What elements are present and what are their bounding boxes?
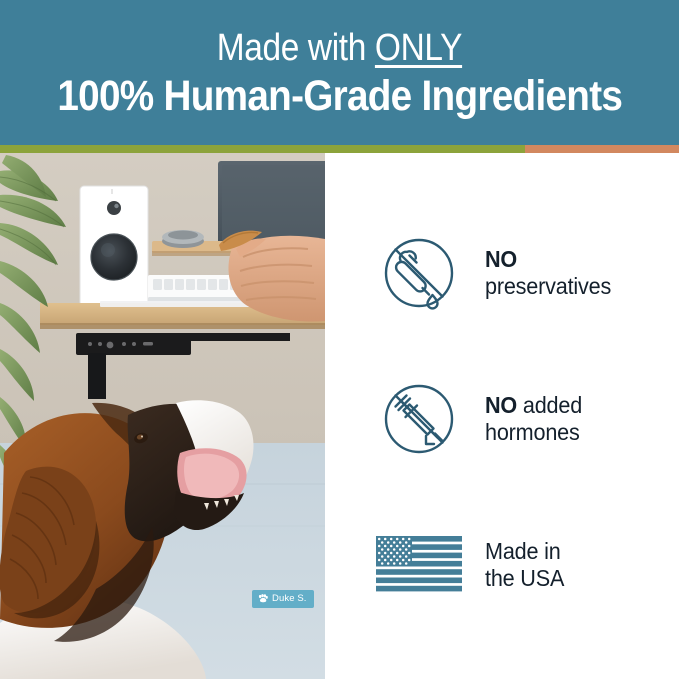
photo-desk-leg xyxy=(88,353,106,399)
banner-headline-line2: 100% Human-Grade Ingredients xyxy=(57,72,622,120)
feature-text-no-hormones: NO added hormones xyxy=(485,392,582,445)
no-dropper-icon xyxy=(375,233,463,313)
feature-list: NO preservatives xyxy=(325,153,679,679)
feature-item-no-preservatives: NO preservatives xyxy=(325,219,679,327)
no-syringe-icon xyxy=(375,379,463,459)
feature-2-bold: NO xyxy=(485,392,517,418)
feature-1-bold: NO xyxy=(485,246,517,272)
feature-1-line2: preservatives xyxy=(485,273,611,300)
accent-strip xyxy=(0,145,679,153)
paw-icon xyxy=(258,594,268,603)
accent-strip-orange xyxy=(525,145,679,153)
banner-headline-prefix: Made with xyxy=(217,27,375,69)
usa-flag-icon xyxy=(375,536,463,594)
banner-headline-line1: Made with ONLY xyxy=(217,29,462,69)
feature-3-rest: Made in xyxy=(485,538,561,564)
flag-canton xyxy=(376,536,412,567)
promo-poster: Made with ONLY 100% Human-Grade Ingredie… xyxy=(0,0,679,679)
feature-item-no-hormones: NO added hormones xyxy=(325,365,679,473)
accent-strip-olive xyxy=(0,145,525,153)
feature-2-line2: hormones xyxy=(485,419,582,446)
feature-text-made-in-usa: Made in the USA xyxy=(485,538,564,591)
banner-headline-emphasis: ONLY xyxy=(375,27,462,69)
dog-name-badge: Duke S. xyxy=(252,590,314,608)
feature-text-no-preservatives: NO preservatives xyxy=(485,246,611,299)
dog-name-label: Duke S. xyxy=(272,593,307,604)
feature-item-made-in-usa: Made in the USA xyxy=(325,511,679,619)
header-banner: Made with ONLY 100% Human-Grade Ingredie… xyxy=(0,0,679,145)
feature-2-rest: added xyxy=(517,392,582,418)
feature-3-line2: the USA xyxy=(485,565,564,592)
